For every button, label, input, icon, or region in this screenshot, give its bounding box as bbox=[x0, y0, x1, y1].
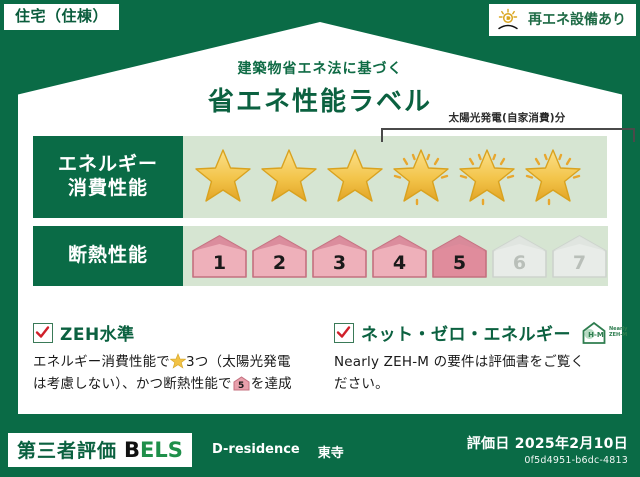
sun-icon bbox=[497, 8, 523, 32]
zehm-house-icon: H-M bbox=[581, 321, 607, 345]
insulation-row-label-text: 断熱性能 bbox=[68, 244, 148, 268]
zehm-logo-mark: H-M bbox=[588, 331, 604, 339]
building-name: D-residence bbox=[212, 442, 300, 461]
energy-row-label: エネルギー 消費性能 bbox=[33, 136, 183, 218]
insulation-level-chips: 1 2 3 4 5 6 7 bbox=[183, 234, 608, 278]
zeh-body-part2: は考慮しない）、かつ断熱性能で bbox=[33, 376, 232, 392]
star-icon-solar bbox=[389, 146, 453, 208]
zeh-column: ZEH水準 エネルギー消費性能で3つ（太陽光発電は考慮しない）、かつ断熱性能で5… bbox=[33, 320, 312, 396]
check-icon bbox=[35, 325, 50, 340]
insulation-level-number: 6 bbox=[491, 254, 548, 273]
nze-body: Nearly ZEH-M の要件は評価書をご覧く ださい。 bbox=[334, 352, 613, 396]
insulation-level-number: 5 bbox=[431, 254, 488, 273]
star-icon bbox=[191, 146, 255, 208]
evaluation-date: 評価日 2025年2月10日 bbox=[467, 433, 628, 453]
inline-level-chip: 5 bbox=[233, 376, 250, 391]
bels-logo: BELS bbox=[124, 438, 183, 462]
star-icon-solar bbox=[521, 146, 585, 208]
energy-star-rating bbox=[183, 146, 585, 208]
insulation-row-label: 断熱性能 bbox=[33, 226, 183, 286]
zehm-logo: H-M Nearly ZEH-M bbox=[581, 321, 627, 345]
label-footer: 第三者評価 BELS D-residence 東寺 評価日 2025年2月10日… bbox=[0, 427, 640, 477]
insulation-row-body: 1 2 3 4 5 6 7 bbox=[183, 226, 608, 286]
inline-star-icon bbox=[170, 353, 186, 369]
zeh-checkbox[interactable] bbox=[33, 323, 53, 343]
third-party-evaluation-label: 第三者評価 bbox=[17, 436, 117, 463]
insulation-level-chip: 3 bbox=[311, 234, 368, 278]
bels-logo-els: ELS bbox=[140, 438, 183, 462]
insulation-level-chip: 1 bbox=[191, 234, 248, 278]
renewable-badge-label: 再エネ設備あり bbox=[528, 13, 626, 27]
zehm-logo-caption: Nearly ZEH-M bbox=[609, 327, 627, 339]
zeh-column-header: ZEH水準 bbox=[33, 320, 312, 345]
building-identity: D-residence 東寺 bbox=[212, 442, 344, 461]
insulation-level-chip: 2 bbox=[251, 234, 308, 278]
check-icon bbox=[336, 325, 351, 340]
solar-note-label: 太陽光発電(自家消費)分 bbox=[449, 112, 566, 124]
insulation-level-chip: 6 bbox=[491, 234, 548, 278]
insulation-level-number: 1 bbox=[191, 254, 248, 273]
insulation-row: 断熱性能 1 2 3 4 5 6 bbox=[33, 226, 607, 286]
evaluation-id: 0f5d4951-b6dc-4813 bbox=[467, 455, 628, 466]
star-icon bbox=[257, 146, 321, 208]
star-icon bbox=[323, 146, 387, 208]
energy-row-body: 太陽光発電(自家消費)分 bbox=[183, 136, 607, 218]
insulation-level-number: 2 bbox=[251, 254, 308, 273]
energy-performance-label: 住宅（住棟） 再エネ設備あり 建築物省エネ法に基づく 省エネ性能ラベル bbox=[0, 0, 640, 477]
bels-logo-b: B bbox=[124, 438, 140, 462]
solar-note: 太陽光発電(自家消費)分 bbox=[381, 106, 633, 125]
performance-rows: エネルギー 消費性能 太陽光発電(自家消費)分 bbox=[33, 136, 607, 286]
header-subtitle: 建築物省エネ法に基づく bbox=[0, 58, 640, 78]
evaluation-meta: 評価日 2025年2月10日 0f5d4951-b6dc-4813 bbox=[467, 433, 628, 466]
insulation-level-chip: 5 bbox=[431, 234, 488, 278]
zehm-caption-line2: ZEH-M bbox=[609, 332, 627, 338]
insulation-level-number: 3 bbox=[311, 254, 368, 273]
insulation-level-number: 4 bbox=[371, 254, 428, 273]
insulation-level-number: 7 bbox=[551, 254, 608, 273]
solar-bracket bbox=[381, 128, 635, 142]
inline-chip-value: 5 bbox=[233, 382, 250, 391]
energy-row-label-line1: エネルギー bbox=[58, 153, 158, 177]
nze-title: ネット・ゼロ・エネルギー bbox=[361, 320, 571, 345]
insulation-level-chip: 7 bbox=[551, 234, 608, 278]
insulation-level-chip: 4 bbox=[371, 234, 428, 278]
bels-evaluation-box: 第三者評価 BELS bbox=[8, 433, 192, 467]
zeh-body-part1: エネルギー消費性能で bbox=[33, 354, 170, 370]
nze-checkbox[interactable] bbox=[334, 323, 354, 343]
star-icon-solar bbox=[455, 146, 519, 208]
criteria-columns: ZEH水準 エネルギー消費性能で3つ（太陽光発電は考慮しない）、かつ断熱性能で5… bbox=[33, 320, 613, 396]
zeh-body-part3: を達成 bbox=[251, 376, 292, 392]
energy-consumption-row: エネルギー 消費性能 太陽光発電(自家消費)分 bbox=[33, 136, 607, 218]
building-type-tag: 住宅（住棟） bbox=[4, 4, 119, 30]
zeh-title: ZEH水準 bbox=[60, 320, 135, 345]
nze-column-header: ネット・ゼロ・エネルギー H-M Nearly ZEH-M bbox=[334, 320, 613, 345]
energy-row-label-line2: 消費性能 bbox=[68, 177, 148, 201]
zeh-star-count: 3つ（太陽光発電 bbox=[186, 354, 291, 370]
renewable-equipment-badge: 再エネ設備あり bbox=[489, 4, 636, 36]
zeh-body: エネルギー消費性能で3つ（太陽光発電は考慮しない）、かつ断熱性能で5を達成 bbox=[33, 352, 312, 396]
nze-column: ネット・ゼロ・エネルギー H-M Nearly ZEH-M Nearly ZEH… bbox=[334, 320, 613, 396]
building-unit: 東寺 bbox=[318, 442, 344, 461]
